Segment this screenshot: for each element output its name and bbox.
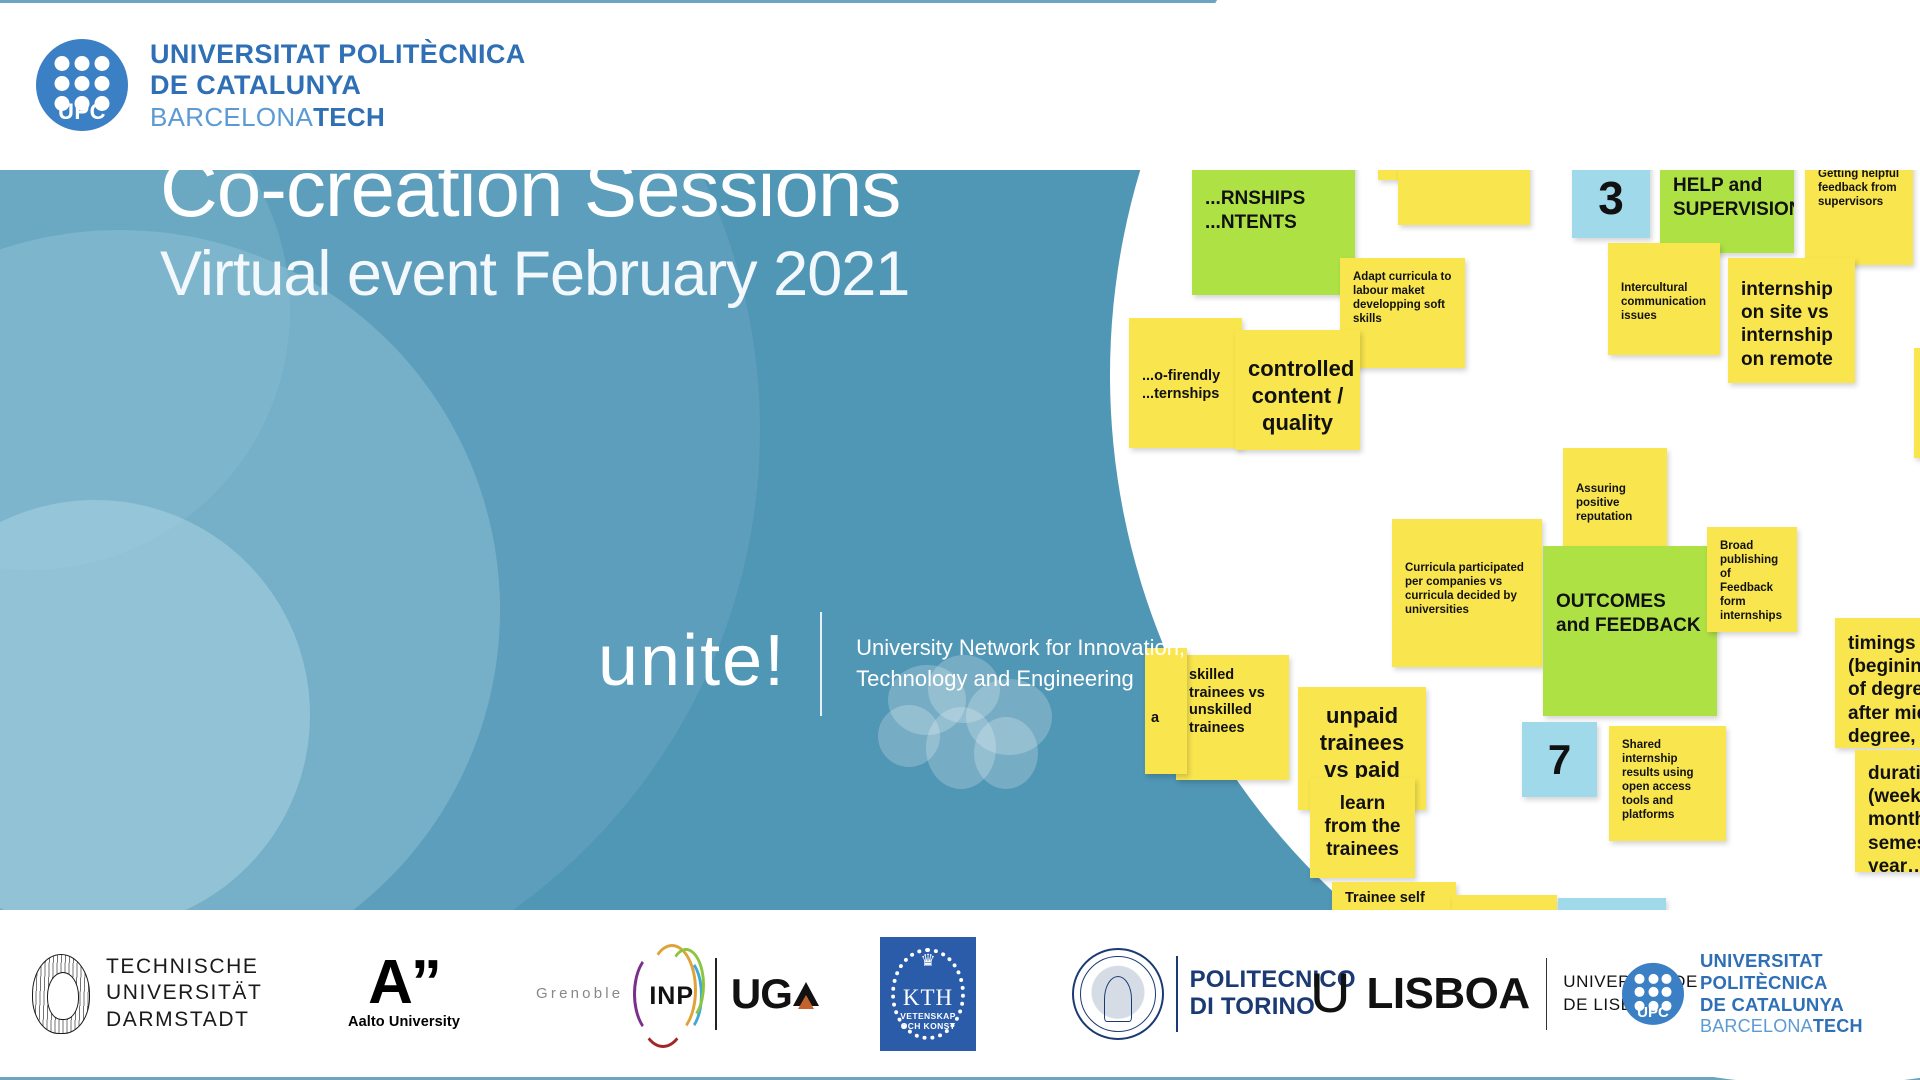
unite-tagline-line-2: Technology and Engineering: [856, 664, 1185, 695]
partner-logo-kth[interactable]: ♛ KTH VETENSKAP OCH KONST: [880, 937, 976, 1051]
politecnico-seal-icon: [1072, 948, 1164, 1040]
partner-logo-grenoble-inp-uga[interactable]: Grenoble INP UG: [536, 946, 819, 1042]
upc-logo[interactable]: UPC UNIVERSITAT POLITÈCNICA DE CATALUNYA…: [36, 39, 526, 132]
upc-mark-label: UPC: [36, 101, 128, 123]
sticky-note-curricula-participated[interactable]: Curricula participated per companies vs …: [1392, 519, 1542, 667]
unite-wordmark: unite!: [598, 625, 820, 703]
sticky-note-skilled-trainees[interactable]: skilled trainees vs unskilled trainees: [1176, 655, 1289, 780]
sticky-note-eco-friendly[interactable]: ...o-firendly ...ternships: [1129, 318, 1242, 448]
upc-footer-wordmark: UNIVERSITAT POLITÈCNICA DE CATALUNYA BAR…: [1700, 949, 1920, 1037]
slide-canvas: ...ns, ...edge, ...rt sk ...RNSHIPS ...N…: [0, 0, 1920, 1080]
sticky-note-controlled-content[interactable]: controlled content / quality: [1235, 330, 1360, 450]
inp-wordmark: INP: [649, 982, 694, 1011]
sticky-note-outcomes-feedback[interactable]: OUTCOMES and FEEDBACK: [1543, 546, 1717, 716]
upc-wordmark: UNIVERSITAT POLITÈCNICA DE CATALUNYA BAR…: [150, 39, 526, 132]
darmstadt-head-icon: [32, 954, 90, 1034]
partner-logo-tu-darmstadt[interactable]: TECHNISCHE UNIVERSITÄT DARMSTADT: [32, 954, 262, 1034]
sticky-note-right-edge-sliver[interactable]: [1914, 348, 1920, 458]
upc-footer-barcelona: BARCELONA: [1700, 1016, 1813, 1036]
kth-seal-icon: ♛ KTH VETENSKAP OCH KONST: [880, 937, 976, 1051]
uga-letters: UG: [731, 970, 792, 1018]
unite-tagline-line-1: University Network for Innovation,: [856, 633, 1185, 664]
kth-crown-icon: ♛: [920, 951, 935, 971]
unite-logo-lockup: unite! University Network for Innovation…: [598, 612, 1185, 716]
sticky-note-shared-results[interactable]: Shared internship results using open acc…: [1609, 726, 1726, 841]
aalto-mark-icon: A”: [348, 957, 460, 1010]
kth-subtitle-line-1: VETENSKAP: [880, 1011, 976, 1022]
ulisboa-u-icon: U: [1310, 968, 1350, 1018]
unite-blob: [974, 717, 1038, 789]
sticky-note-learn-from-trainees[interactable]: learn from the trainees: [1310, 778, 1415, 878]
partner-logo-aalto[interactable]: A” Aalto University: [348, 957, 460, 1031]
sticky-note-timings[interactable]: timings (begining of degree, after mid d…: [1835, 618, 1920, 748]
upc-footer-tech: TECH: [1813, 1016, 1863, 1036]
upc-wordmark-line-1: UNIVERSITAT POLITÈCNICA: [150, 39, 526, 70]
sticky-note-intercultural[interactable]: Intercultural communication issues: [1608, 243, 1720, 355]
darmstadt-line-2: UNIVERSITÄT: [106, 980, 262, 1006]
kth-subtitle: VETENSKAP OCH KONST: [880, 1011, 976, 1032]
upc-wordmark-line-3: BARCELONATECH: [150, 102, 526, 132]
sticky-note-broad-publishing[interactable]: Broad publishing of Feedback form intern…: [1707, 527, 1797, 632]
grenoble-wordmark: Grenoble: [536, 985, 623, 1002]
grenoble-arcs-icon: INP: [637, 946, 701, 1042]
kth-subtitle-line-2: OCH KONST: [880, 1021, 976, 1032]
upc-footer-line-2: DE CATALUNYA: [1700, 994, 1920, 1016]
uga-wordmark: UG: [731, 970, 819, 1018]
darmstadt-line-3: DARMSTADT: [106, 1007, 262, 1033]
upc-footer-circle-icon: UPC: [1622, 963, 1684, 1025]
upc-footer-line-1: UNIVERSITAT POLITÈCNICA: [1700, 949, 1920, 993]
unite-tagline: University Network for Innovation, Techn…: [856, 633, 1185, 695]
grenoble-divider: [715, 958, 717, 1030]
upc-footer-line-3: BARCELONATECH: [1700, 1016, 1920, 1038]
darmstadt-wordmark: TECHNISCHE UNIVERSITÄT DARMSTADT: [106, 954, 262, 1032]
kth-wordmark: KTH: [880, 985, 976, 1011]
ulisboa-divider: [1546, 958, 1548, 1030]
upc-circle-icon: UPC: [36, 39, 128, 131]
darmstadt-line-1: TECHNISCHE: [106, 954, 262, 980]
header-band: UPC UNIVERSITAT POLITÈCNICA DE CATALUNYA…: [0, 3, 1920, 170]
ulisboa-wordmark: LISBOA: [1366, 969, 1529, 1019]
upc-wordmark-barcelona: BARCELONA: [150, 102, 313, 132]
aalto-wordmark: Aalto University: [348, 1014, 460, 1030]
sticky-note-number-7[interactable]: 7: [1522, 722, 1597, 797]
hero-subtitle: Virtual event February 2021: [160, 237, 909, 313]
unite-divider: [820, 612, 822, 716]
sticky-note-getting-feedback[interactable]: Getting helpful feedback from supervisor…: [1805, 155, 1913, 265]
uga-triangle-icon: [793, 982, 819, 1006]
upc-wordmark-line-2: DE CATALUNYA: [150, 70, 526, 101]
partner-logo-footer: TECHNISCHE UNIVERSITÄT DARMSTADT A” Aalt…: [0, 910, 1920, 1077]
partner-logo-upc[interactable]: UPC UNIVERSITAT POLITÈCNICA DE CATALUNYA…: [1622, 949, 1920, 1037]
sticky-note-number-3[interactable]: 3: [1572, 158, 1650, 238]
sticky-note-duration[interactable]: duration (weeks, months, semester, year……: [1855, 750, 1920, 872]
politecnico-divider: [1176, 956, 1178, 1032]
sticky-note-onsite-vs-remote[interactable]: internship on site vs internship on remo…: [1728, 258, 1855, 383]
upc-footer-mark-label: UPC: [1622, 1005, 1684, 1020]
upc-wordmark-tech: TECH: [313, 102, 385, 132]
